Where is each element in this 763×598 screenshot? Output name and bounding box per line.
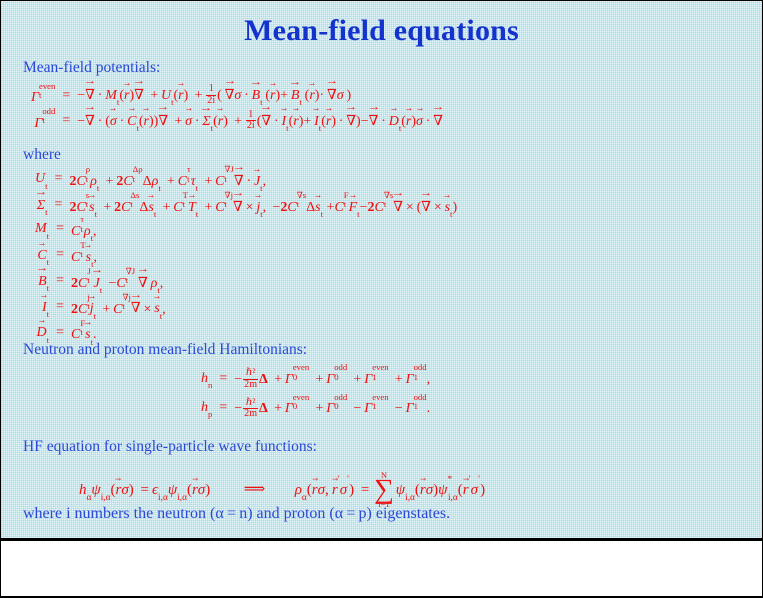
M-lhs: Mt	[35, 221, 49, 237]
closing-note: where i numbers the neutron (α = n) and …	[23, 505, 450, 523]
gamma-odd-lhs: Γoddt	[34, 111, 55, 132]
hn-relation: =	[219, 371, 227, 387]
I-relation: =	[56, 299, 64, 315]
gamma-even-lhs: Γevent	[31, 85, 55, 106]
where-label: where	[23, 146, 61, 164]
B-lhs: Bt	[38, 273, 49, 290]
gamma-equations: Γevent = −∇ · Mt(r)∇ + Ut(r) + 12i( ∇σ ·…	[31, 85, 443, 132]
potentials-heading: Mean-field potentials:	[23, 59, 160, 77]
hf-heading: HF equation for single-particle wave fun…	[23, 438, 317, 456]
Sigma-lhs: Σt	[37, 197, 48, 214]
footer-bar: Jacek Dobaczewski IFT UW ♕ JYVÄSKYLÄN YL…	[1, 541, 762, 596]
hf-density-equation: ρα(rσ, r′σ′) = N∑i=1ψi,α(rσ)ψ*i,α(r′σ′)	[295, 482, 485, 498]
M-rhs: Cτtρt,	[71, 219, 97, 240]
hp-relation: =	[219, 400, 227, 416]
hp-lhs: hp	[201, 400, 212, 416]
gamma-even-relation: =	[62, 88, 70, 104]
B-relation: =	[56, 273, 64, 289]
hf-equation: hαψi,α(rσ) = ϵi,αψi,α(rσ) ⟹ ρα(rσ, r′σ′)…	[79, 471, 485, 509]
hn-lhs: hn	[201, 371, 212, 387]
Sigma-rhs: 2Cstst + 2CΔstΔst + CTtTt + C∇jt∇ × jt, …	[69, 195, 457, 216]
U-lhs: Ut	[35, 171, 48, 187]
C-rhs: CTtst,	[71, 245, 97, 266]
D-lhs: Dt	[37, 324, 50, 341]
field-definitions-a: Ut = 2Cρtρt + 2CΔρtΔρt + Cτtτt + C∇Jt∇ ·…	[35, 169, 457, 216]
Sigma-relation: =	[55, 197, 63, 213]
hamiltonian-equations: hn = −ℏ²2mΔ + Γeven0 + Γodd0 + Γeven1 + …	[201, 367, 430, 420]
hamiltonians-heading: Neutron and proton mean-field Hamiltonia…	[23, 341, 307, 359]
page-title: Mean-field equations	[1, 14, 762, 48]
field-definitions-b: Mt = Cτtρt, Ct = CTtst, Bt = 2CJt Jt −C∇…	[35, 219, 166, 343]
hn-rhs: −ℏ²2mΔ + Γeven0 + Γodd0 + Γeven1 + Γodd1…	[234, 367, 430, 390]
U-relation: =	[55, 171, 63, 187]
hf-eigen-equation: hαψi,α(rσ) = ϵi,αψi,α(rσ)	[79, 482, 214, 498]
implies-arrow: ⟹	[244, 482, 266, 498]
D-relation: =	[56, 325, 64, 341]
slide-canvas: Mean-field equations Mean-field potentia…	[1, 1, 762, 596]
gamma-odd-relation: =	[62, 113, 70, 129]
M-relation: =	[56, 221, 64, 237]
gamma-odd-rhs: −∇ · (σ · Ct(r))∇ + σ · Σt(r) + 12i(∇ · …	[77, 111, 443, 133]
C-relation: =	[56, 247, 64, 263]
B-rhs: 2CJt Jt −C∇Jt ∇ ρt,	[71, 271, 163, 292]
hp-rhs: −ℏ²2mΔ + Γeven0 + Γodd0 − Γeven1 − Γodd1…	[234, 396, 430, 419]
gamma-even-rhs: −∇ · Mt(r)∇ + Ut(r) + 12i( ∇σ · Bt (r)+ …	[77, 85, 351, 107]
I-rhs: 2Cjtjt + C∇jt∇ × st,	[71, 297, 166, 318]
I-lhs: It	[42, 298, 49, 315]
